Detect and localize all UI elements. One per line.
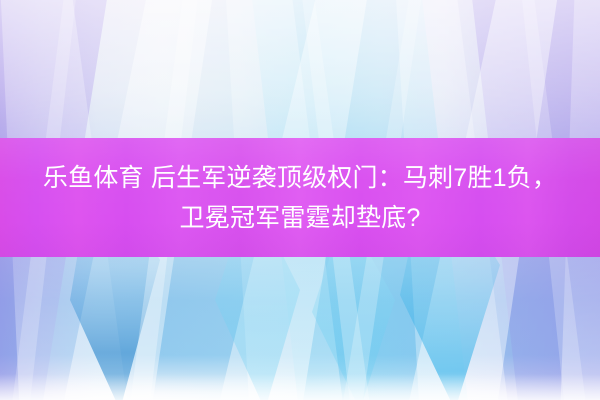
headline-line-1: 乐鱼体育 后生军逆袭顶级权门：马刺7胜1负， [43, 158, 557, 198]
background-top-veil [0, 0, 600, 150]
headline-line-2: 卫冕冠军雷霆却垫底? [180, 198, 421, 238]
background-bottom-veil [0, 374, 600, 400]
promo-banner: 乐鱼体育 后生军逆袭顶级权门：马刺7胜1负， 卫冕冠军雷霆却垫底? [0, 0, 600, 400]
headline-text: 乐鱼体育 后生军逆袭顶级权门：马刺7胜1负， 卫冕冠军雷霆却垫底? [0, 138, 600, 257]
